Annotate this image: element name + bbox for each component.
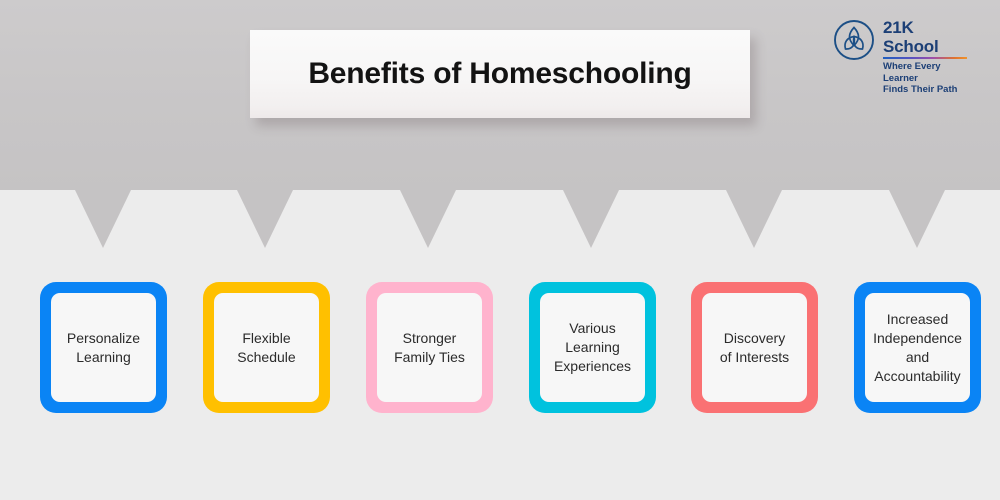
card-stronger-family-ties[interactable]: Stronger Family Ties <box>366 282 493 413</box>
page-title: Benefits of Homeschooling <box>308 57 691 91</box>
card-label: Various Learning Experiences <box>554 319 631 376</box>
card-inner: Various Learning Experiences <box>540 293 645 402</box>
notch-triangle <box>726 190 782 248</box>
card-label: Stronger Family Ties <box>394 329 465 367</box>
brand-logo: 21K School Where Every Learner Finds The… <box>833 17 973 69</box>
logo-tagline: Where Every Learner Finds Their Path <box>883 61 973 96</box>
card-label: Increased Independence and Accountabilit… <box>873 310 962 386</box>
card-flexible-schedule[interactable]: Flexible Schedule <box>203 282 330 413</box>
notch-triangle <box>75 190 131 248</box>
infographic-root: Benefits of Homeschooling 21K School Whe… <box>0 0 1000 500</box>
card-inner: Flexible Schedule <box>214 293 319 402</box>
card-inner: Personalize Learning <box>51 293 156 402</box>
title-card: Benefits of Homeschooling <box>250 30 750 118</box>
logo-gradient-rule <box>883 57 967 59</box>
card-label: Flexible Schedule <box>237 329 295 367</box>
card-personalize-learning[interactable]: Personalize Learning <box>40 282 167 413</box>
card-inner: Discovery of Interests <box>702 293 807 402</box>
card-discovery-of-interests[interactable]: Discovery of Interests <box>691 282 818 413</box>
notch-triangle <box>563 190 619 248</box>
benefit-cards-row: Personalize Learning Flexible Schedule S… <box>0 282 1000 413</box>
card-various-learning-experiences[interactable]: Various Learning Experiences <box>529 282 656 413</box>
notch-triangle <box>889 190 945 248</box>
lotus-circle-logo-icon <box>833 19 875 61</box>
card-increased-independence-and-accountability[interactable]: Increased Independence and Accountabilit… <box>854 282 981 413</box>
card-inner: Increased Independence and Accountabilit… <box>865 293 970 402</box>
card-label: Discovery of Interests <box>720 329 789 367</box>
logo-name: 21K School <box>883 18 973 56</box>
logo-text-block: 21K School Where Every Learner Finds The… <box>883 17 973 96</box>
card-label: Personalize Learning <box>67 329 140 367</box>
notch-triangle <box>237 190 293 248</box>
card-inner: Stronger Family Ties <box>377 293 482 402</box>
notch-triangle <box>400 190 456 248</box>
